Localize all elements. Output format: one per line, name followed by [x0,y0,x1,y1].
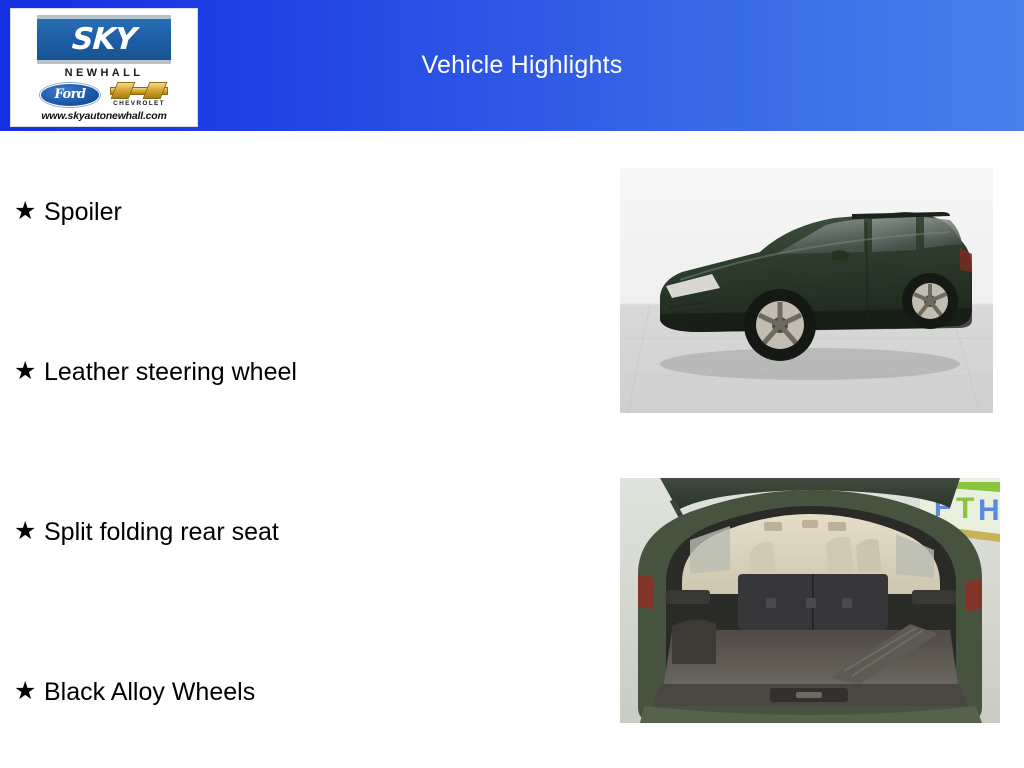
list-item: ★ Spoiler [14,162,594,322]
svg-text:T: T [956,492,974,525]
svg-text:H: H [978,494,1000,527]
dealer-location-text: NEWHALL [65,67,144,79]
feature-label: Spoiler [44,194,122,229]
vehicle-cargo-photo[interactable]: F T H [620,478,1000,723]
chevrolet-logo-text: CHEVROLET [113,100,165,107]
vehicle-cargo-illustration: F T H [620,478,1000,723]
front-wheel [744,289,816,361]
feature-label: Black Alloy Wheels [44,674,255,709]
franchise-logo-row: Ford CHEVROLET [17,82,191,107]
star-bullet-icon: ★ [14,354,44,388]
feature-label: Leather steering wheel [44,354,297,389]
star-bullet-icon: ★ [14,674,44,708]
list-item: ★ Leather steering wheel [14,322,594,482]
vehicle-exterior-illustration [620,168,993,413]
list-item: ★ Split folding rear seat [14,482,594,642]
sky-brand-text: SKY [71,25,137,55]
list-item: ★ Black Alloy Wheels [14,642,594,768]
feature-label: Split folding rear seat [44,514,279,549]
sky-brand-badge: SKY [37,15,171,64]
vehicle-exterior-photo[interactable] [620,168,993,413]
dealer-logo[interactable]: SKY NEWHALL Ford CHEVROLET www.skyautone… [10,8,198,127]
ford-logo-icon: Ford [40,83,100,107]
dealer-website-url: www.skyautonewhall.com [41,110,166,122]
vehicle-features-list: ★ Spoiler ★ Leather steering wheel ★ Spl… [14,162,594,768]
vehicle-highlights-slide: Vehicle Highlights SKY NEWHALL Ford CHEV… [0,0,1024,768]
chevrolet-bowtie-icon [110,82,168,99]
chevrolet-logo-icon: CHEVROLET [110,82,168,107]
rear-wheel [902,273,958,329]
star-bullet-icon: ★ [14,514,44,548]
ford-logo-text: Ford [54,87,85,102]
dealer-logo-inner: SKY NEWHALL Ford CHEVROLET www.skyautone… [11,9,197,126]
star-bullet-icon: ★ [14,194,44,228]
